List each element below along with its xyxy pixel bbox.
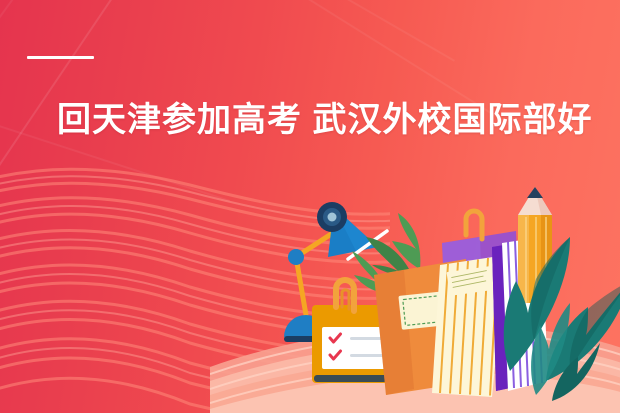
promo-banner: 回天津参加高考 武汉外校国际部好 bbox=[0, 0, 620, 413]
leaf-green-icon bbox=[352, 213, 420, 293]
diagonal-streak bbox=[0, 0, 152, 190]
wave-pattern-left bbox=[0, 143, 390, 413]
clipboard-checklist-icon bbox=[312, 280, 410, 383]
book-cream-striped-icon bbox=[432, 255, 506, 397]
decorative-rule bbox=[27, 56, 94, 59]
leaf-teal-icon bbox=[504, 237, 620, 401]
desk-lamp-icon bbox=[284, 202, 387, 342]
book-purple-icon bbox=[492, 243, 524, 391]
diagonal-streak bbox=[229, 0, 455, 62]
book-purple-back-icon bbox=[442, 211, 522, 367]
page-title: 回天津参加高考 武汉外校国际部好 bbox=[57, 99, 597, 141]
notebook-icon bbox=[374, 259, 476, 395]
wave-pattern-right bbox=[210, 239, 620, 413]
pencil-icon bbox=[518, 187, 552, 303]
book-striped-icon bbox=[502, 237, 548, 391]
stationery-illustration bbox=[270, 185, 620, 413]
diagonal-streak bbox=[0, 0, 42, 228]
